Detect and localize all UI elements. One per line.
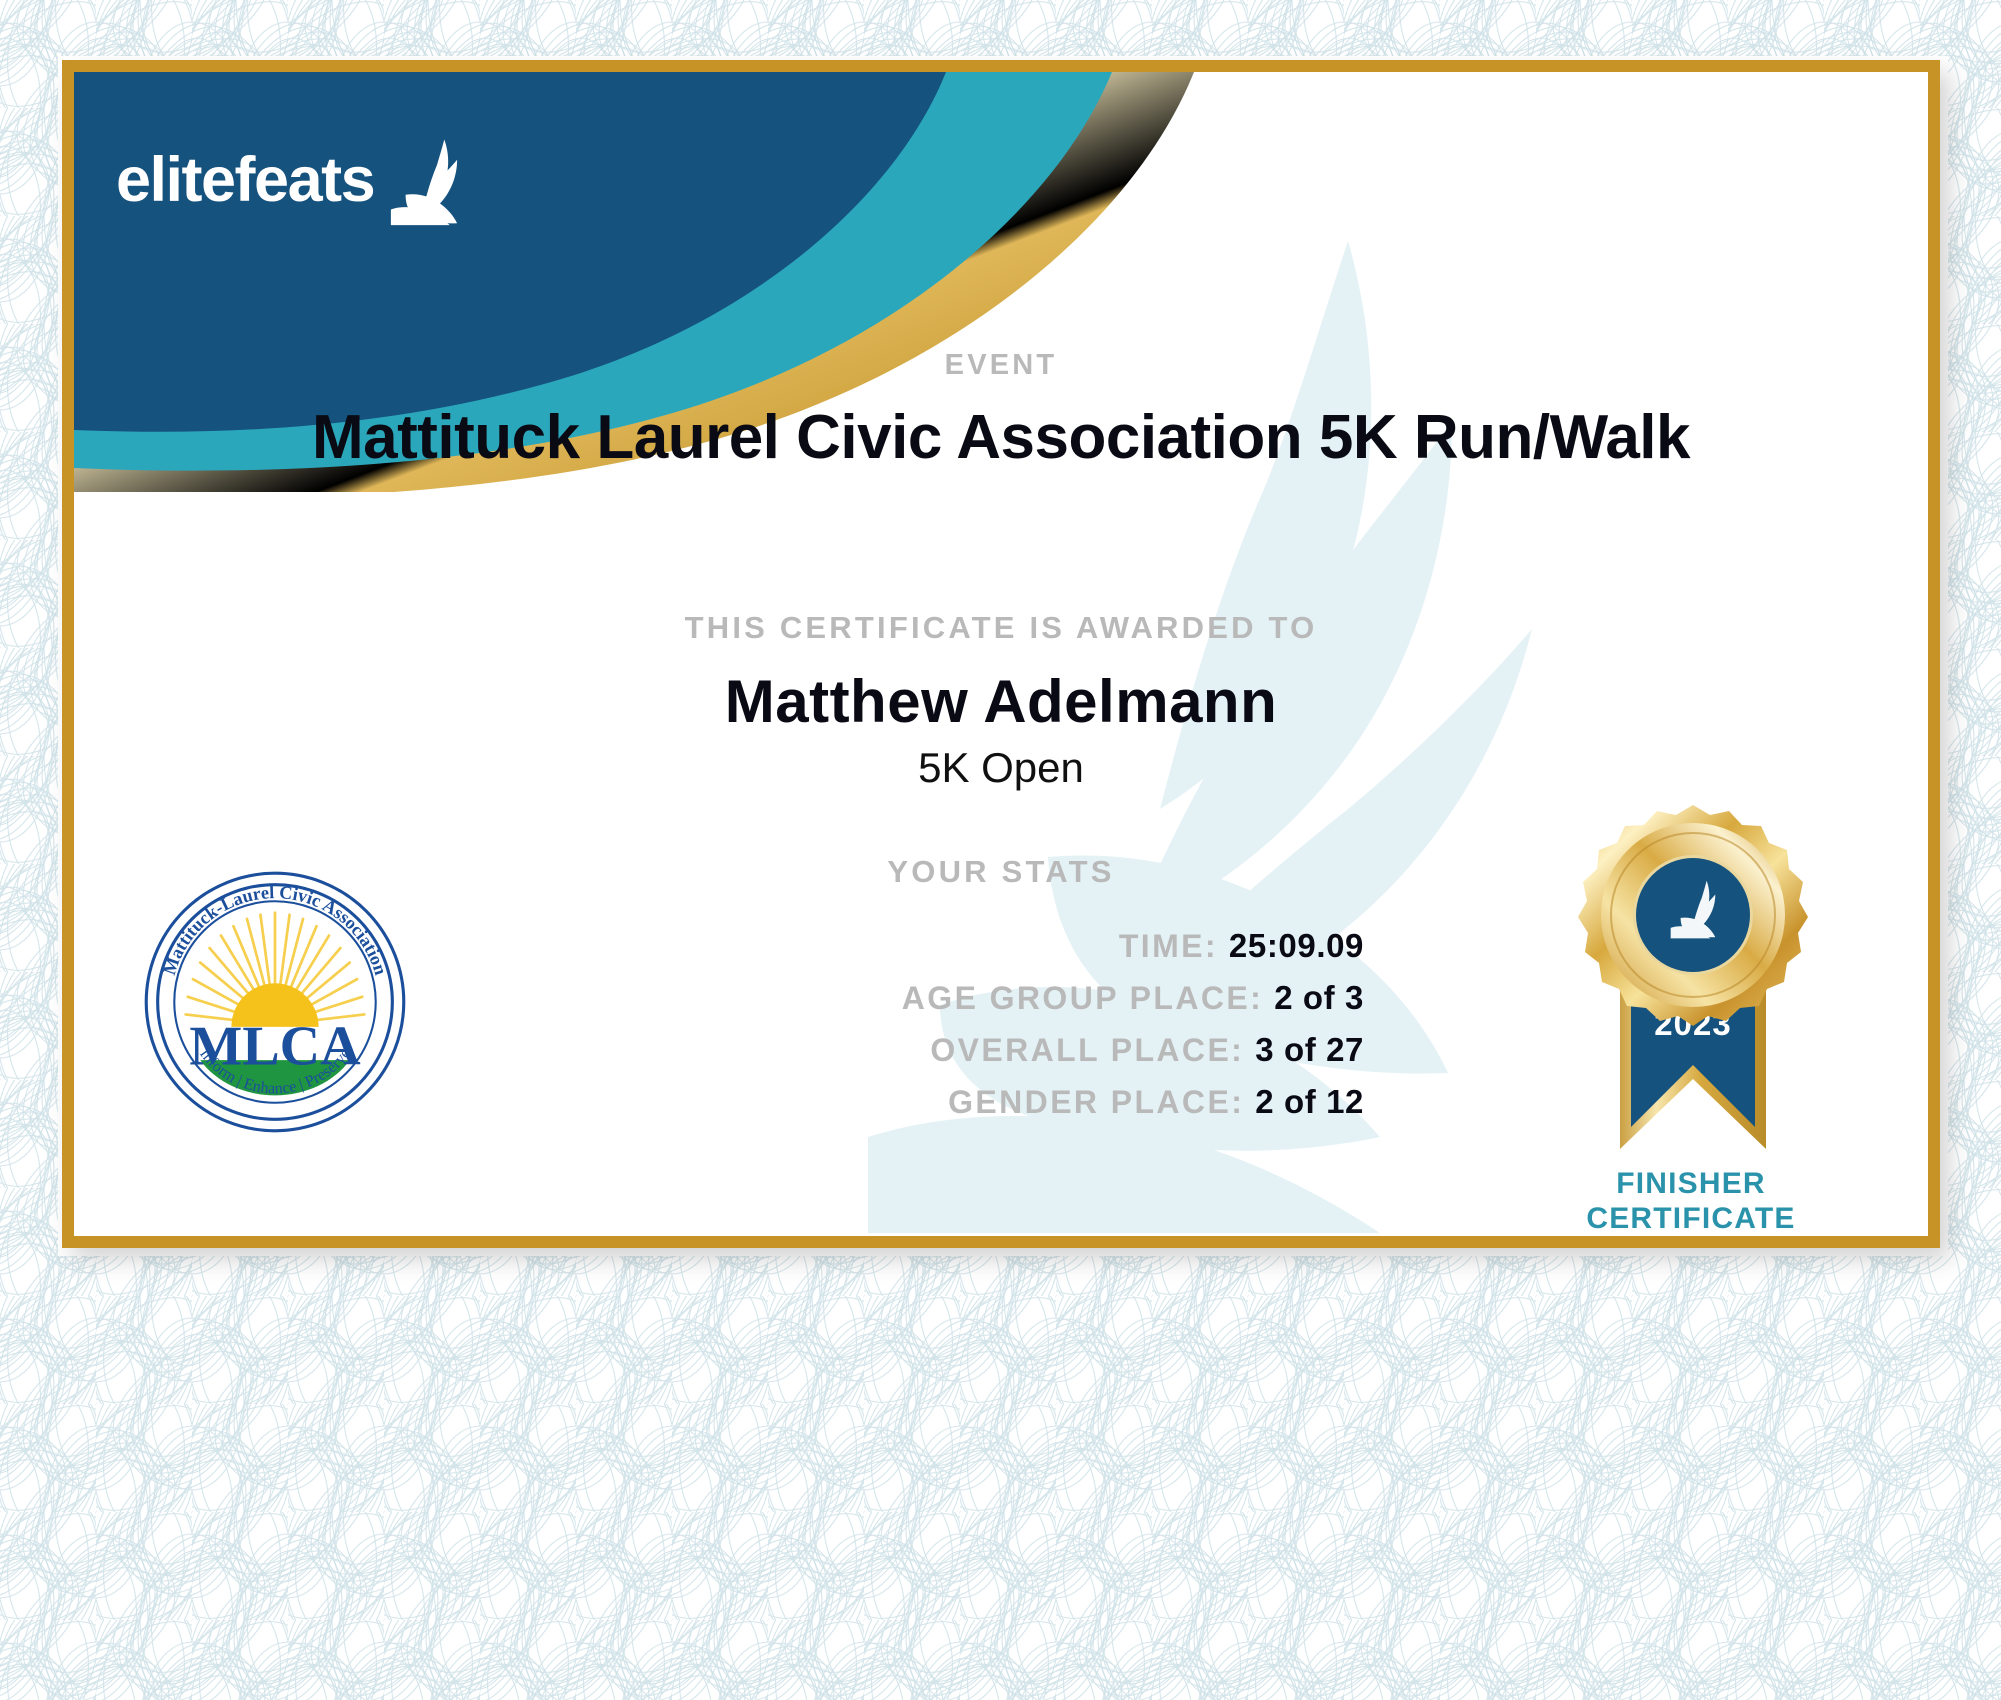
recipient-name: Matthew Adelmann [74, 667, 1928, 736]
stat-value: 3 of 27 [1255, 1031, 1364, 1069]
stat-value: 2 of 12 [1255, 1083, 1364, 1121]
certificate-inner-card: elitefeats EVENT Mattituck Laurel Civic … [74, 72, 1928, 1236]
recipient-division: 5K Open [74, 744, 1928, 792]
event-title: Mattituck Laurel Civic Association 5K Ru… [74, 402, 1928, 473]
certificate-page: elitefeats EVENT Mattituck Laurel Civic … [0, 0, 2001, 1700]
finisher-caption-line1: FINISHER [1526, 1167, 1856, 1202]
stat-key: OVERALL PLACE: [930, 1032, 1244, 1069]
stat-key: AGE GROUP PLACE: [902, 980, 1263, 1017]
finisher-certificate-caption: FINISHER CERTIFICATE [1526, 1167, 1856, 1236]
medal-scallop [1578, 805, 1808, 1026]
stat-key: TIME: [1119, 928, 1218, 965]
mlca-club-logo: MLCA Mattituck-Laurel Civic Association … [140, 867, 410, 1137]
finisher-caption-line2: CERTIFICATE [1526, 1202, 1856, 1237]
stat-value: 2 of 3 [1274, 979, 1364, 1017]
finisher-medal-badge: 2023 [1558, 797, 1828, 1217]
stat-value: 25:09.09 [1229, 927, 1364, 965]
stat-key: GENDER PLACE: [948, 1084, 1244, 1121]
event-section-label: EVENT [74, 349, 1928, 382]
certificate-gold-frame: elitefeats EVENT Mattituck Laurel Civic … [62, 60, 1940, 1248]
awarded-to-label: THIS CERTIFICATE IS AWARDED TO [74, 610, 1928, 646]
